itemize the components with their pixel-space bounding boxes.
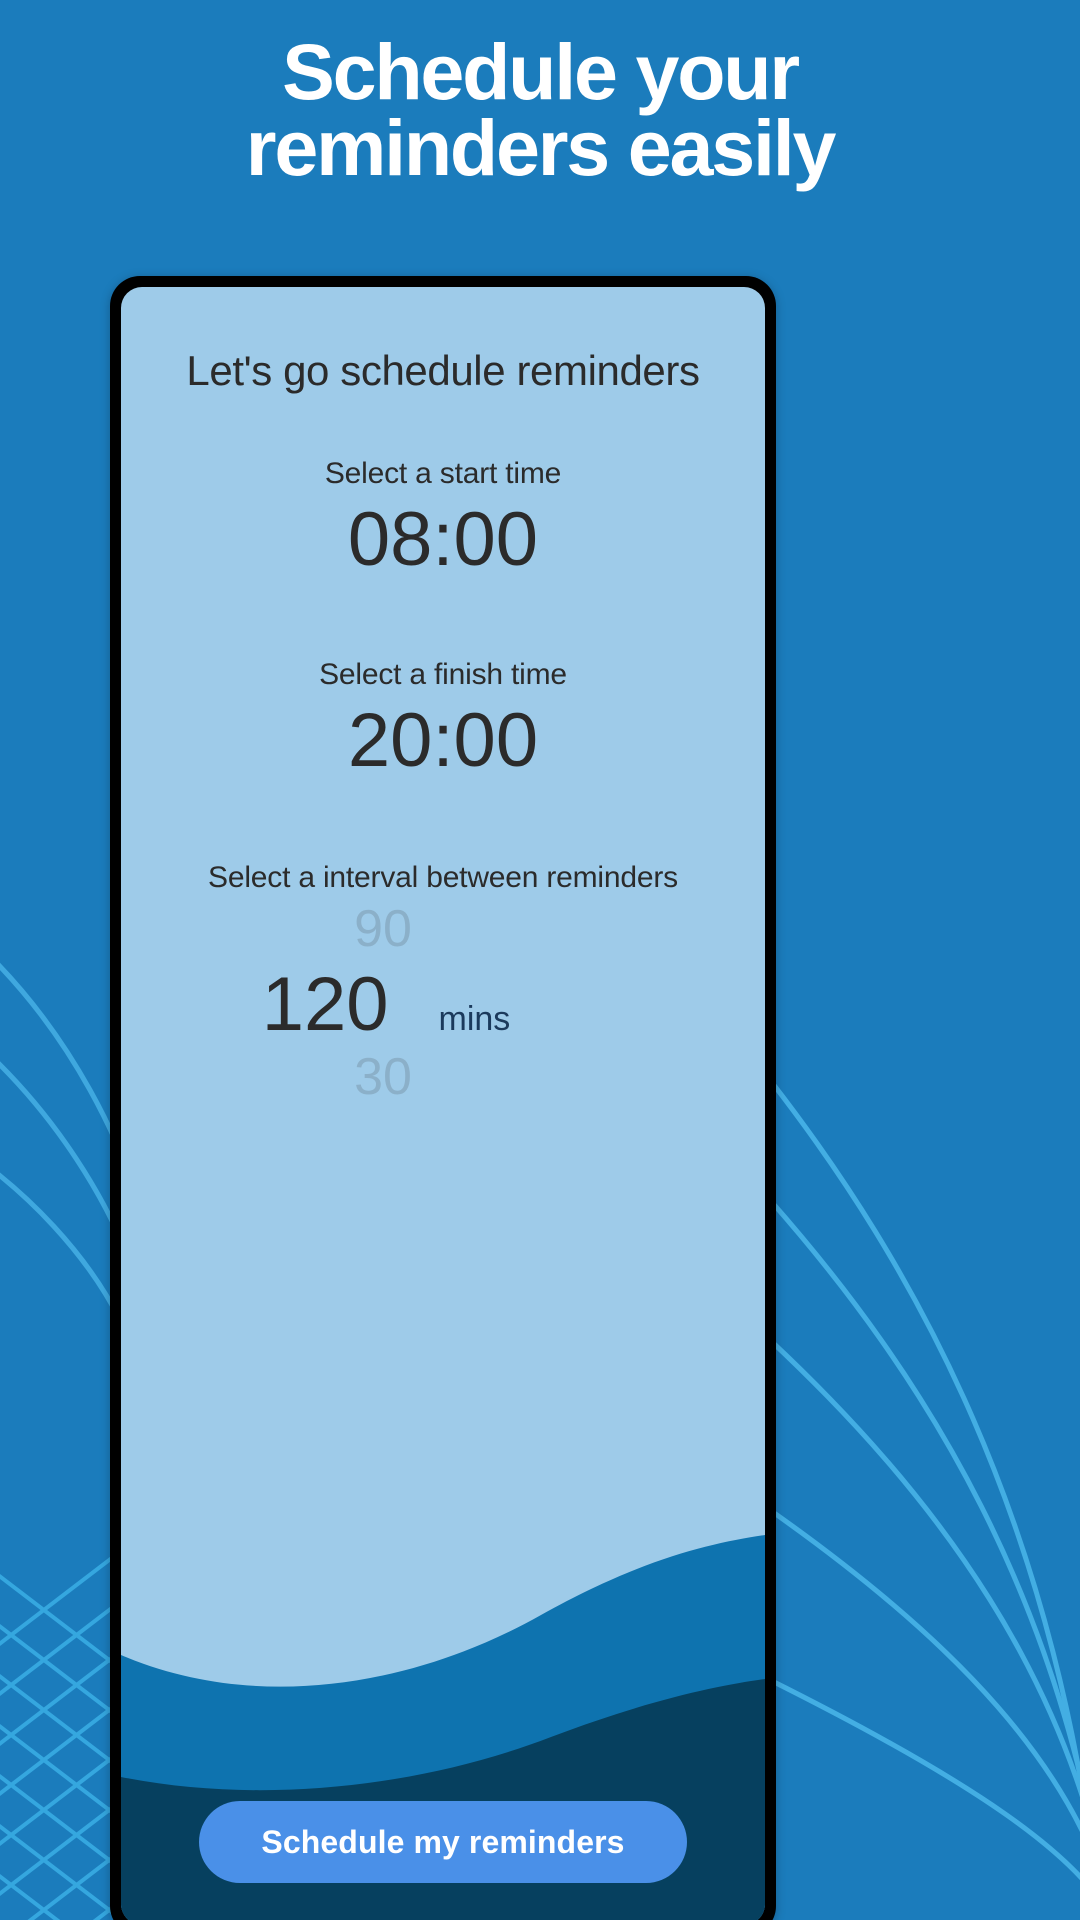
headline-line-2: reminders easily (60, 110, 1020, 186)
interval-unit-label: mins (439, 1000, 511, 1039)
interval-value-next: 30 (354, 1047, 412, 1107)
phone-mockup: Let's go schedule reminders Select a sta… (110, 276, 776, 1920)
interval-option-below[interactable]: 30 (121, 1047, 765, 1107)
interval-option-selected[interactable]: 120 mins (121, 961, 765, 1048)
arc-lines-decoration-right (760, 1040, 1080, 1920)
screen-content: Let's go schedule reminders Select a sta… (121, 287, 765, 1920)
page-title: Schedule your reminders easily (0, 34, 1080, 186)
finish-time-group: Select a finish time 20:00 (319, 658, 567, 783)
interval-option-above[interactable]: 90 (121, 899, 765, 959)
interval-value-selected: 120 (262, 961, 389, 1048)
start-time-label: Select a start time (325, 457, 561, 491)
interval-label: Select a interval between reminders (121, 861, 765, 895)
interval-group: Select a interval between reminders 90 1… (121, 861, 765, 1129)
finish-time-label: Select a finish time (319, 658, 567, 692)
interval-picker[interactable]: 90 120 mins 30 (121, 899, 765, 1129)
start-time-value[interactable]: 08:00 (325, 497, 561, 582)
phone-screen: Let's go schedule reminders Select a sta… (121, 287, 765, 1920)
screen-heading: Let's go schedule reminders (186, 347, 699, 395)
start-time-group: Select a start time 08:00 (325, 457, 561, 582)
interval-value-previous: 90 (354, 899, 412, 959)
schedule-reminders-button[interactable]: Schedule my reminders (199, 1801, 687, 1883)
finish-time-value[interactable]: 20:00 (319, 698, 567, 783)
headline-line-1: Schedule your (60, 34, 1020, 110)
